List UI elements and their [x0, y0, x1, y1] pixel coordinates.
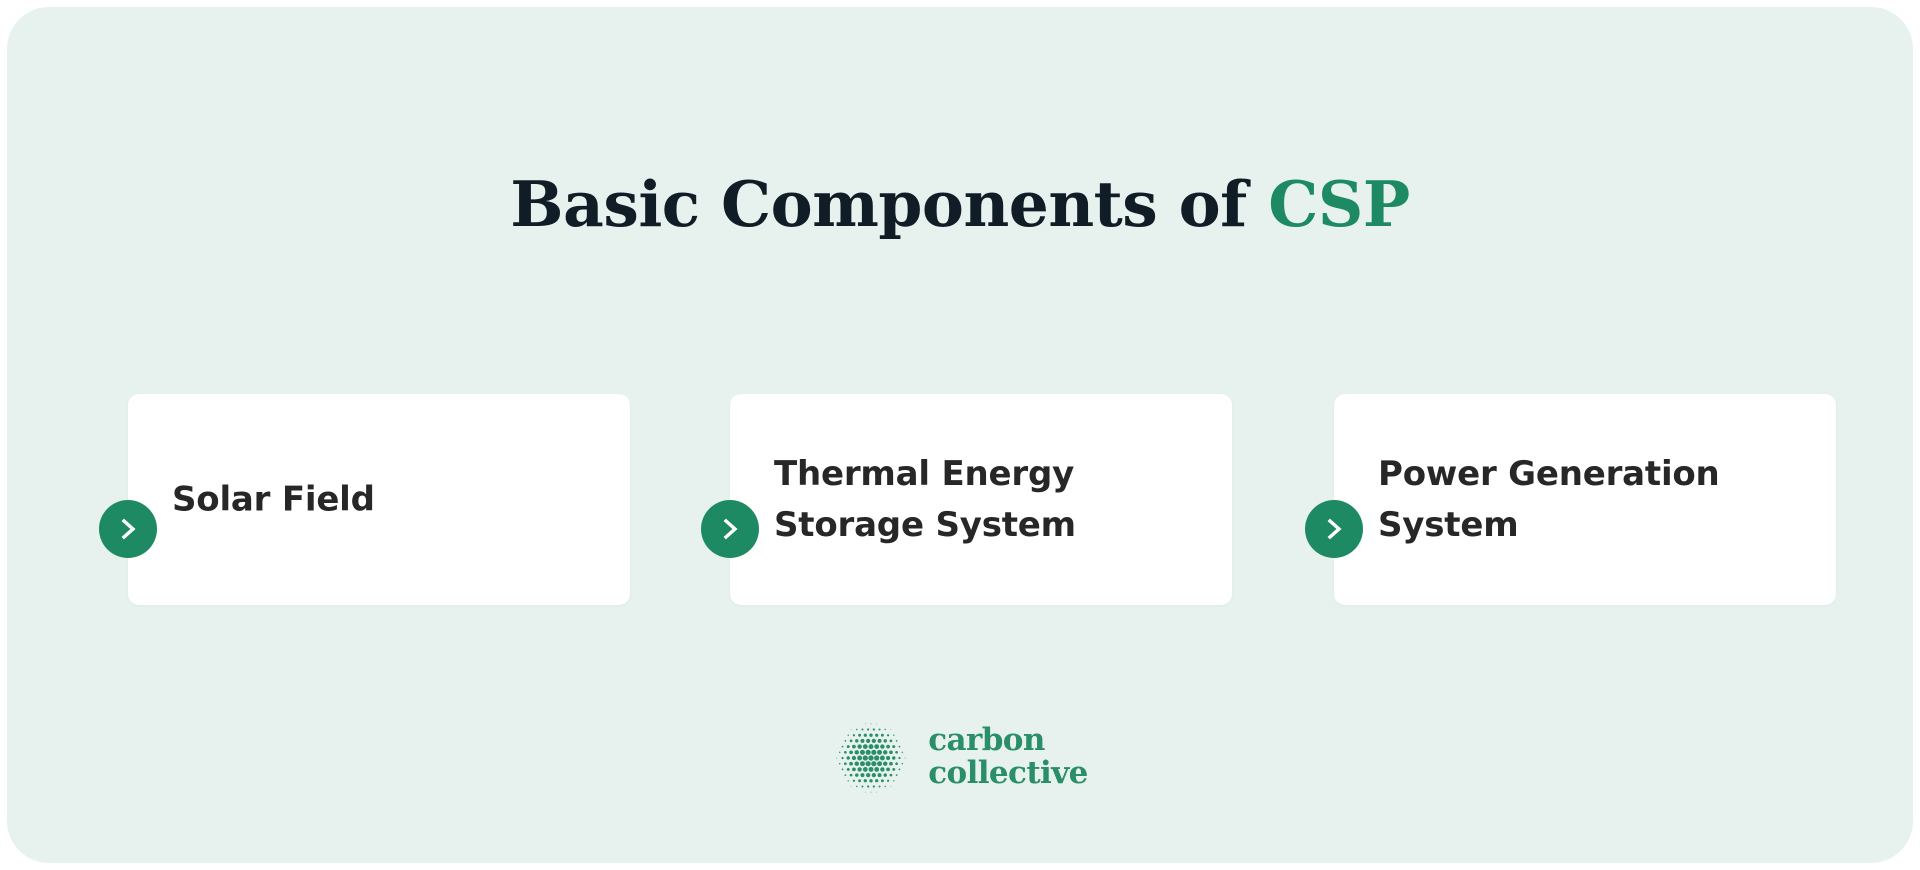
chevron-right-icon — [99, 500, 157, 558]
component-card[interactable]: Power Generation System — [1334, 394, 1836, 605]
component-card-label: Power Generation System — [1378, 449, 1810, 551]
chevron-right-icon — [1305, 500, 1363, 558]
screenshot-canvas: Basic Components of CSP Solar Field Ther… — [0, 0, 1920, 870]
dotted-circle-icon — [832, 719, 910, 797]
component-card-list: Solar Field Thermal Energy Storage Syste… — [7, 394, 1913, 608]
page-title: Basic Components of CSP — [7, 167, 1913, 241]
infographic-panel: Basic Components of CSP Solar Field Ther… — [7, 7, 1913, 863]
page-title-lead: Basic Components of — [510, 167, 1268, 241]
brand-logo: carbon collective — [7, 713, 1913, 803]
page-title-accent: CSP — [1268, 167, 1410, 241]
brand-logo-text: carbon collective — [928, 724, 1088, 792]
component-card[interactable]: Thermal Energy Storage System — [730, 394, 1232, 605]
component-card[interactable]: Solar Field — [128, 394, 630, 605]
chevron-right-icon — [701, 500, 759, 558]
component-card-label: Solar Field — [172, 474, 604, 525]
component-card-label: Thermal Energy Storage System — [774, 449, 1206, 551]
